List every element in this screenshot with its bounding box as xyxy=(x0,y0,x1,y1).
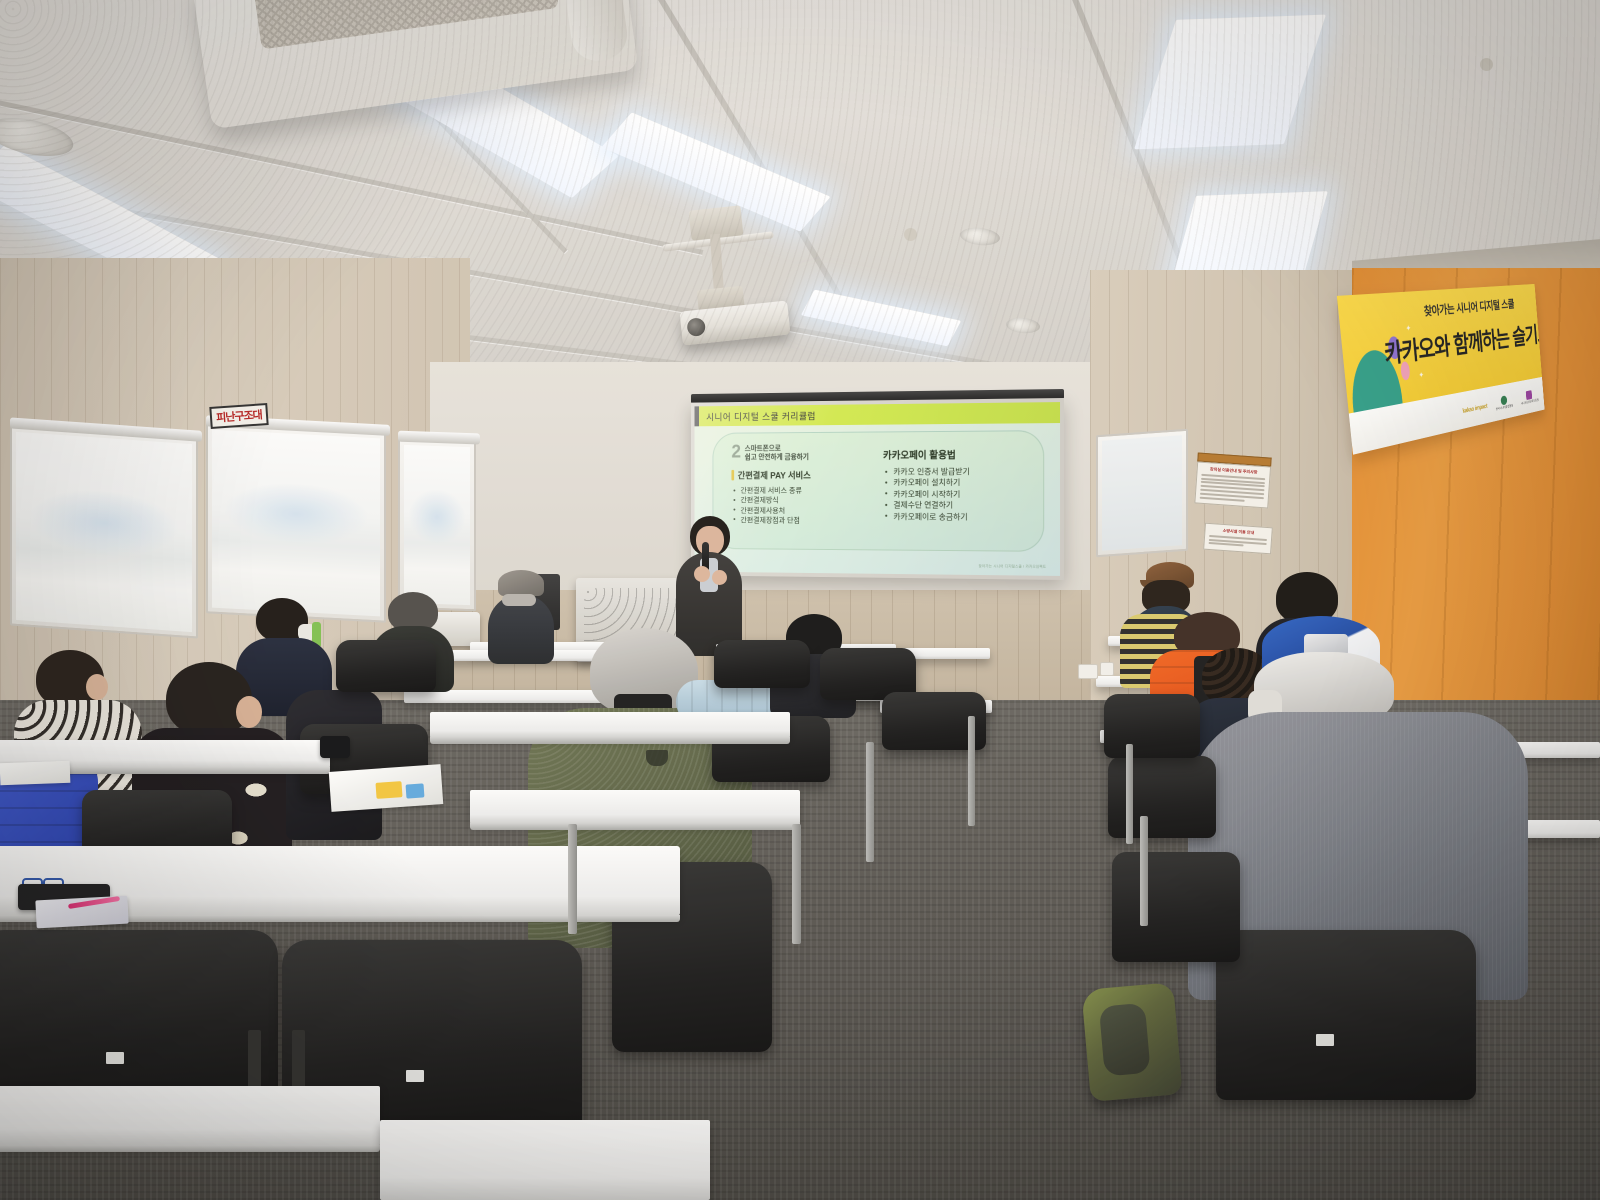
slide-left-bullet: 간편결제사용처 xyxy=(731,506,869,516)
chair[interactable] xyxy=(714,640,810,688)
chair-right-back[interactable] xyxy=(1108,756,1216,838)
attendee-face xyxy=(236,696,262,728)
handout-highlight xyxy=(375,781,402,799)
backpack-on-floor[interactable] xyxy=(1081,982,1182,1102)
brand-logo-icon xyxy=(646,750,668,766)
chair[interactable] xyxy=(336,640,436,692)
logo-senior-association-text: 한국시니어클럽협회 xyxy=(1496,403,1514,411)
wall-notice-primary: 강의실 이용안내 및 주의사항 xyxy=(1194,452,1271,508)
desk-leg xyxy=(1126,744,1133,844)
slide-left-column: 2 스마트폰으로 쉽고 안전하게 금융하기 간편결제 PAY 서비스 xyxy=(731,444,869,526)
slide-header-text: 시니어 디지털 스쿨 커리큘럼 xyxy=(706,408,816,423)
slide-right-heading: 카카오페이 활용법 xyxy=(883,446,1029,461)
slide-footer: 찾아가는 시니어 디지털스쿨 / 카카오임팩트 xyxy=(979,564,1047,570)
banner-sparkle-icon: ✦ xyxy=(1418,370,1424,381)
slide-left-heading-tick xyxy=(731,470,734,481)
window-blind-center xyxy=(206,423,386,622)
chair-label-sticker xyxy=(406,1070,424,1082)
projector-pole xyxy=(710,234,724,295)
papers-left-desk[interactable] xyxy=(0,761,70,785)
slide-right-bullet: 카카오 인증서 발급받기 xyxy=(883,466,1029,478)
wall-notice-secondary: 소방시설 이용 안내 xyxy=(1203,523,1273,555)
ac-cassette-icon xyxy=(192,0,639,129)
chair-right-back[interactable] xyxy=(1104,694,1200,758)
desk-leg xyxy=(568,824,577,934)
power-outlet-icon xyxy=(1078,664,1098,679)
desk-foreground xyxy=(0,1086,380,1146)
slide-section-number: 2 xyxy=(731,445,741,460)
attendee-face xyxy=(86,674,108,700)
sprinkler-icon xyxy=(1480,58,1493,71)
logo-mark-icon xyxy=(1500,395,1507,405)
banner-subtitle: 찾아가는 시니어 디지털 스쿨 xyxy=(1423,295,1515,319)
classroom-photo: 피난구조대 강의실 이용안내 및 주의사항 소방시설 이용 안내 시니어 디지털… xyxy=(0,0,1600,1200)
fluorescent-panel xyxy=(601,112,830,231)
exit-sign-label: 피난구조대 xyxy=(216,406,263,425)
projector-mount xyxy=(697,286,746,319)
chair-front-left[interactable] xyxy=(0,930,278,1110)
projector-mount xyxy=(689,205,744,240)
fluorescent-panel xyxy=(1134,15,1326,150)
window-blind-right xyxy=(398,439,476,612)
chair-label-sticker xyxy=(106,1052,124,1064)
slide-right-bullet: 카카오페이 설치하기 xyxy=(883,477,1029,488)
chair-right-back[interactable] xyxy=(1112,852,1240,962)
ceiling-speaker-icon xyxy=(1005,317,1040,335)
slide-right-bullet: 카카오페이로 송금하기 xyxy=(883,511,1029,523)
sprinkler-icon xyxy=(904,228,917,241)
slide-right-bullet: 결제수단 연결하기 xyxy=(883,500,1029,512)
chair-right-front[interactable] xyxy=(1216,930,1476,1100)
power-outlet-icon xyxy=(1100,662,1114,676)
slide-section-title-line2: 쉽고 안전하게 금융하기 xyxy=(745,453,809,462)
tablet-held[interactable] xyxy=(320,736,350,758)
slide-header-bar: 시니어 디지털 스쿨 커리큘럼 xyxy=(695,402,1060,426)
presenter-hand xyxy=(694,566,710,582)
ceiling-speaker-icon xyxy=(0,111,77,163)
projector-bracket xyxy=(662,231,774,252)
desk-leg xyxy=(1140,816,1148,926)
fluorescent-panel xyxy=(801,290,961,347)
scarf xyxy=(502,594,536,606)
flat-cap-icon xyxy=(498,570,544,596)
presentation-slide: 시니어 디지털 스쿨 커리큘럼 2 스마트폰으로 쉽고 안전하게 금융하기 xyxy=(695,402,1060,576)
desk-foreground-right xyxy=(380,1120,710,1200)
slide-content-card: 2 스마트폰으로 쉽고 안전하게 금융하기 간편결제 PAY 서비스 xyxy=(712,430,1044,552)
slide-left-bullet: 간편결제방식 xyxy=(731,496,869,506)
logo-kakao-impact-text: kakao impact xyxy=(1462,403,1487,414)
ceiling-speaker-icon xyxy=(959,226,1001,247)
desk-leg xyxy=(968,716,975,826)
slide-left-heading: 간편결제 PAY 서비스 xyxy=(738,469,811,482)
logo-mark-icon xyxy=(1526,390,1532,400)
emergency-exit-sign: 피난구조대 xyxy=(209,403,268,429)
attendee-hair xyxy=(166,662,252,736)
desk-mid-center xyxy=(430,712,790,738)
projector-icon xyxy=(680,300,791,345)
logo-education-council-text: 시니어평생교육진흥원 xyxy=(1521,398,1539,406)
presenter-hand xyxy=(712,570,727,585)
slide-right-bullets: 카카오 인증서 발급받기 카카오페이 설치하기 카카오페이 시작하기 결제수단 … xyxy=(883,466,1029,523)
logo-kakao-impact: kakao impact xyxy=(1462,403,1487,414)
slide-right-column: 카카오페이 활용법 카카오 인증서 발급받기 카카오페이 설치하기 카카오페이 … xyxy=(883,443,1029,527)
window-rear-right xyxy=(1096,429,1188,557)
chair-label-sticker xyxy=(1316,1034,1334,1046)
logo-senior-association: 한국시니어클럽협회 xyxy=(1495,394,1513,412)
desk-leg xyxy=(866,742,874,862)
window-blind-left xyxy=(10,425,198,638)
logo-education-council: 시니어평생교육진흥원 xyxy=(1520,388,1539,405)
slide-left-bullet: 간편결제장점과 단점 xyxy=(731,516,869,526)
slide-left-bullets: 간편결제 서비스 종류 간편결제방식 간편결제사용처 간편결제장점과 단점 xyxy=(731,486,869,526)
desk-mid-center-2 xyxy=(470,790,800,824)
fluorescent-panel xyxy=(381,46,618,198)
slide-right-bullet: 카카오페이 시작하기 xyxy=(883,489,1029,500)
handout-highlight xyxy=(406,783,425,798)
desk-leg xyxy=(792,824,801,944)
